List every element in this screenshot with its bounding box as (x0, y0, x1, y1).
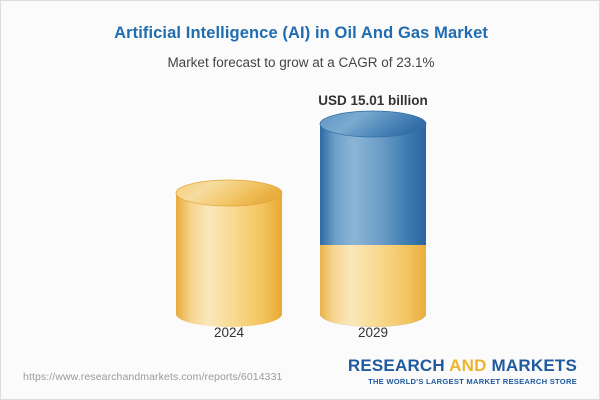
cylinder-2029[interactable] (317, 101, 429, 341)
bar-group-2024: USD 5.31 billion (173, 81, 285, 341)
research-and-markets-logo[interactable]: RESEARCH AND MARKETS THE WORLD'S LARGEST… (348, 357, 577, 386)
logo-markets-text: MARKETS (492, 356, 577, 375)
chart-title: Artificial Intelligence (AI) in Oil And … (1, 24, 600, 43)
logo-wordmark: RESEARCH AND MARKETS (348, 357, 577, 374)
chart-figure: Artificial Intelligence (AI) in Oil And … (0, 0, 600, 400)
logo-research-text: RESEARCH (348, 356, 449, 375)
logo-tagline: THE WORLD'S LARGEST MARKET RESEARCH STOR… (348, 378, 577, 386)
category-label-2024: 2024 (173, 325, 285, 340)
cylinder-top-2029 (320, 111, 426, 137)
cylinder-top-2024 (176, 180, 282, 206)
source-url[interactable]: https://www.researchandmarkets.com/repor… (23, 371, 282, 383)
plot-area: USD 5.31 billion (1, 81, 600, 341)
cylinder-body-yellow-2029 (317, 245, 429, 327)
chart-subtitle: Market forecast to grow at a CAGR of 23.… (1, 55, 600, 70)
logo-and-text: AND (449, 356, 491, 375)
cylinder-2024[interactable] (173, 101, 285, 341)
bar-group-2029: USD 15.01 billion (317, 81, 429, 341)
category-label-2029: 2029 (317, 325, 429, 340)
